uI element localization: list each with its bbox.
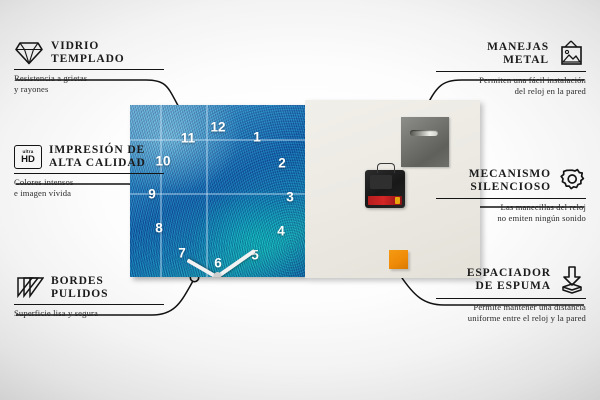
clock-numeral-11: 11 [181,131,195,145]
callout-header: MANEJAS METAL [436,40,586,68]
gear-icon [558,167,586,195]
callout-impresion-alta-calidad: ultra HD IMPRESIÓN DE ALTA CALIDAD Color… [14,144,164,199]
callout-desc-line2: y rayones [14,84,164,95]
callout-desc-line1: Colores intensos [14,177,164,188]
callout-mecanismo-silencioso: MECANISMO SILENCIOSO Las manecillas del … [436,167,586,224]
down-arrow-pad-icon [558,265,586,295]
callout-title: BORDES PULIDOS [51,275,108,301]
callout-desc-line1: Permite mantener una distancia [436,302,586,313]
mechanism-hanger-loop [377,163,395,173]
callout-desc-line2: del reloj en la pared [436,86,586,97]
diamond-icon [14,40,44,66]
callout-rule [436,198,586,199]
callout-desc-line1: Las manecillas del reloj [436,202,586,213]
foam-spacer [389,250,408,269]
callout-rule [14,69,164,70]
clock-numeral-3: 3 [286,190,294,204]
mechanism-gearbox [370,175,392,189]
callout-title-line1: ESPACIADOR [467,267,551,280]
callout-rule [436,298,586,299]
callout-desc-line1: Superficie lisa y segura [14,308,164,319]
callout-description: Permiten una fácil instalación del reloj… [436,75,586,96]
artwork-grid-line [206,105,208,277]
callout-title-line2: TEMPLADO [51,53,125,66]
callout-header: ESPACIADOR DE ESPUMA [436,265,586,295]
callout-description: Permite mantener una distancia uniforme … [436,302,586,323]
callout-title-line1: MECANISMO [469,168,551,181]
callout-vidrio-templado: VIDRIO TEMPLADO Resistencia a grietas y … [14,40,164,95]
battery-label [368,196,402,205]
clock-numeral-1: 1 [253,130,261,144]
clock-hands-hub [214,272,221,278]
callout-description: Superficie lisa y segura [14,308,164,319]
ultra-hd-icon-main-text: HD [21,155,35,165]
clock-numeral-2: 2 [278,156,286,170]
callout-title: MANEJAS METAL [487,41,549,67]
callout-title-line2: DE ESPUMA [467,280,551,293]
callout-desc-line2: uniforme entre el reloj y la pared [436,313,586,324]
callout-header: VIDRIO TEMPLADO [14,40,164,66]
polished-edges-icon [14,275,44,301]
callout-header: ultra HD IMPRESIÓN DE ALTA CALIDAD [14,144,164,170]
framed-picture-icon [556,40,586,68]
callout-title-line1: BORDES [51,275,108,288]
clock-numeral-7: 7 [178,246,186,260]
callout-title-line2: ALTA CALIDAD [49,157,146,170]
clock-numeral-6: 6 [214,256,222,270]
callout-desc-line2: no emiten ningún sonido [436,213,586,224]
callout-title: MECANISMO SILENCIOSO [469,168,551,194]
callout-bordes-pulidos: BORDES PULIDOS Superficie lisa y segura [14,275,164,319]
callout-title: IMPRESIÓN DE ALTA CALIDAD [49,144,146,170]
callout-description: Colores intensos e imagen vívida [14,177,164,198]
callout-title-line1: IMPRESIÓN DE [49,144,146,157]
clock-mechanism [365,170,405,208]
callout-title: VIDRIO TEMPLADO [51,40,125,66]
battery-terminal [395,197,400,204]
callout-description: Las manecillas del reloj no emiten ningú… [436,202,586,223]
callout-header: BORDES PULIDOS [14,275,164,301]
callout-desc-line1: Resistencia a grietas [14,73,164,84]
callout-title: ESPACIADOR DE ESPUMA [467,267,551,293]
callout-rule [436,71,586,72]
clock-numeral-4: 4 [277,224,285,238]
callout-rule [14,173,164,174]
callout-title-line1: VIDRIO [51,40,125,53]
metal-hanger-plate [401,117,449,167]
clock-numeral-12: 12 [210,120,225,134]
callout-title-line2: METAL [487,54,549,67]
callout-rule [14,304,164,305]
hanger-keyhole-slot [410,130,438,136]
infographic-canvas: 12 1 2 3 4 5 6 7 8 9 10 11 [0,0,600,400]
callout-title-line1: MANEJAS [487,41,549,54]
callout-header: MECANISMO SILENCIOSO [436,167,586,195]
callout-title-line2: PULIDOS [51,288,108,301]
clock-numeral-8: 8 [155,221,163,235]
callout-espaciador-espuma: ESPACIADOR DE ESPUMA Permite mantener un… [436,265,586,324]
callout-desc-line2: e imagen vívida [14,188,164,199]
ultra-hd-icon: ultra HD [14,145,42,169]
callout-desc-line1: Permiten una fácil instalación [436,75,586,86]
callout-title-line2: SILENCIOSO [469,181,551,194]
artwork-grid-line [130,139,305,141]
callout-manejas-metal: MANEJAS METAL Permiten una fácil instala… [436,40,586,97]
callout-description: Resistencia a grietas y rayones [14,73,164,94]
